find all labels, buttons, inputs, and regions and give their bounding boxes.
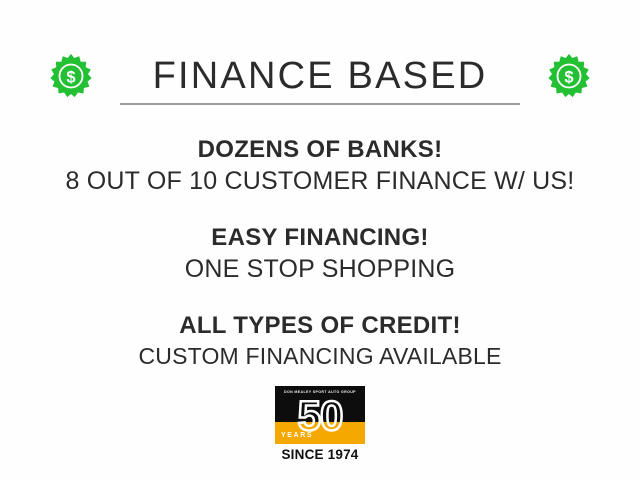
svg-text:$: $	[66, 67, 75, 86]
title-wrap: FINANCE BASED	[120, 54, 520, 98]
title-divider	[120, 103, 520, 105]
svg-text:$: $	[564, 67, 573, 86]
copy-subline: ONE STOP SHOPPING	[0, 253, 640, 286]
copy-block-easy-financing: EASY FINANCING! ONE STOP SHOPPING	[0, 222, 640, 286]
dealer-logo: DON MEALEY SPORT AUTO GROUP 50 YEARS SIN…	[275, 386, 365, 463]
copy-subline: CUSTOM FINANCING AVAILABLE	[0, 341, 640, 372]
gear-dollar-icon: $	[48, 53, 94, 99]
copy-heading: EASY FINANCING!	[0, 222, 640, 253]
header: $ FINANCE BASED $	[0, 40, 640, 112]
copy-heading: ALL TYPES OF CREDIT!	[0, 310, 640, 341]
copy-block-all-credit: ALL TYPES OF CREDIT! CUSTOM FINANCING AV…	[0, 310, 640, 372]
copy-subline: 8 OUT OF 10 CUSTOMER FINANCE W/ US!	[0, 165, 640, 198]
copy-heading: DOZENS OF BANKS!	[0, 134, 640, 165]
logo-mark: DON MEALEY SPORT AUTO GROUP 50 YEARS	[275, 386, 365, 444]
copy-block-banks: DOZENS OF BANKS! 8 OUT OF 10 CUSTOMER FI…	[0, 134, 640, 198]
page-title: FINANCE BASED	[120, 54, 520, 98]
gear-dollar-icon: $	[546, 53, 592, 99]
finance-based-slide: $ FINANCE BASED $ DOZENS OF BANKS! 8 OUT…	[0, 0, 640, 480]
body-copy: DOZENS OF BANKS! 8 OUT OF 10 CUSTOMER FI…	[0, 134, 640, 372]
logo-since-label: SINCE 1974	[275, 447, 365, 463]
logo-years-label: YEARS	[281, 432, 313, 440]
